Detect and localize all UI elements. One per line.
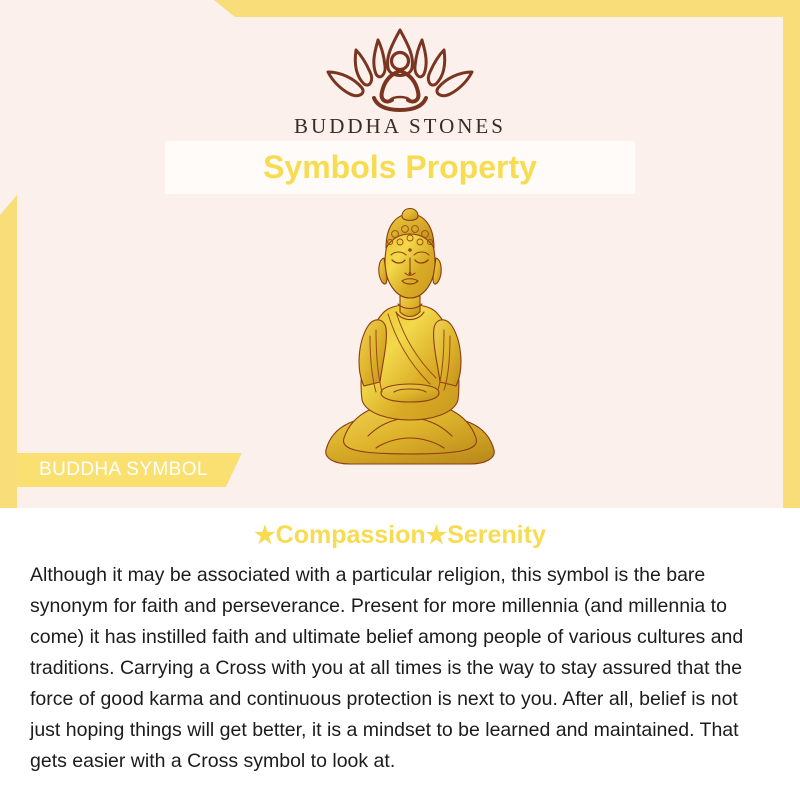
subtitle-word-serenity: Serenity: [447, 521, 546, 549]
star-icon-left: ★: [254, 522, 276, 549]
buddha-symbol-tag-label: BUDDHA SYMBOL: [39, 459, 208, 481]
subtitle-word-compassion: Compassion: [276, 521, 426, 549]
brand-header: BUDDHA STONES: [0, 24, 800, 139]
lotus-meditation-icon: [0, 24, 800, 112]
poster-page: BUDDHA STONES Symbols Property: [0, 0, 800, 800]
star-icon-middle: ★: [426, 522, 448, 549]
brand-wordmark: BUDDHA STONES: [0, 114, 800, 139]
buddha-symbol-tag: BUDDHA SYMBOL: [17, 453, 242, 487]
content-body-text: Although it may be associated with a par…: [0, 550, 800, 777]
decorative-band-top: [214, 0, 800, 17]
page-title: Symbols Property: [263, 149, 537, 186]
buddha-statue-image: [310, 200, 510, 490]
content-subtitle: ★Compassion★Serenity: [0, 508, 800, 550]
content-panel: ★Compassion★Serenity Although it may be …: [0, 508, 800, 800]
title-banner: Symbols Property: [165, 141, 635, 194]
